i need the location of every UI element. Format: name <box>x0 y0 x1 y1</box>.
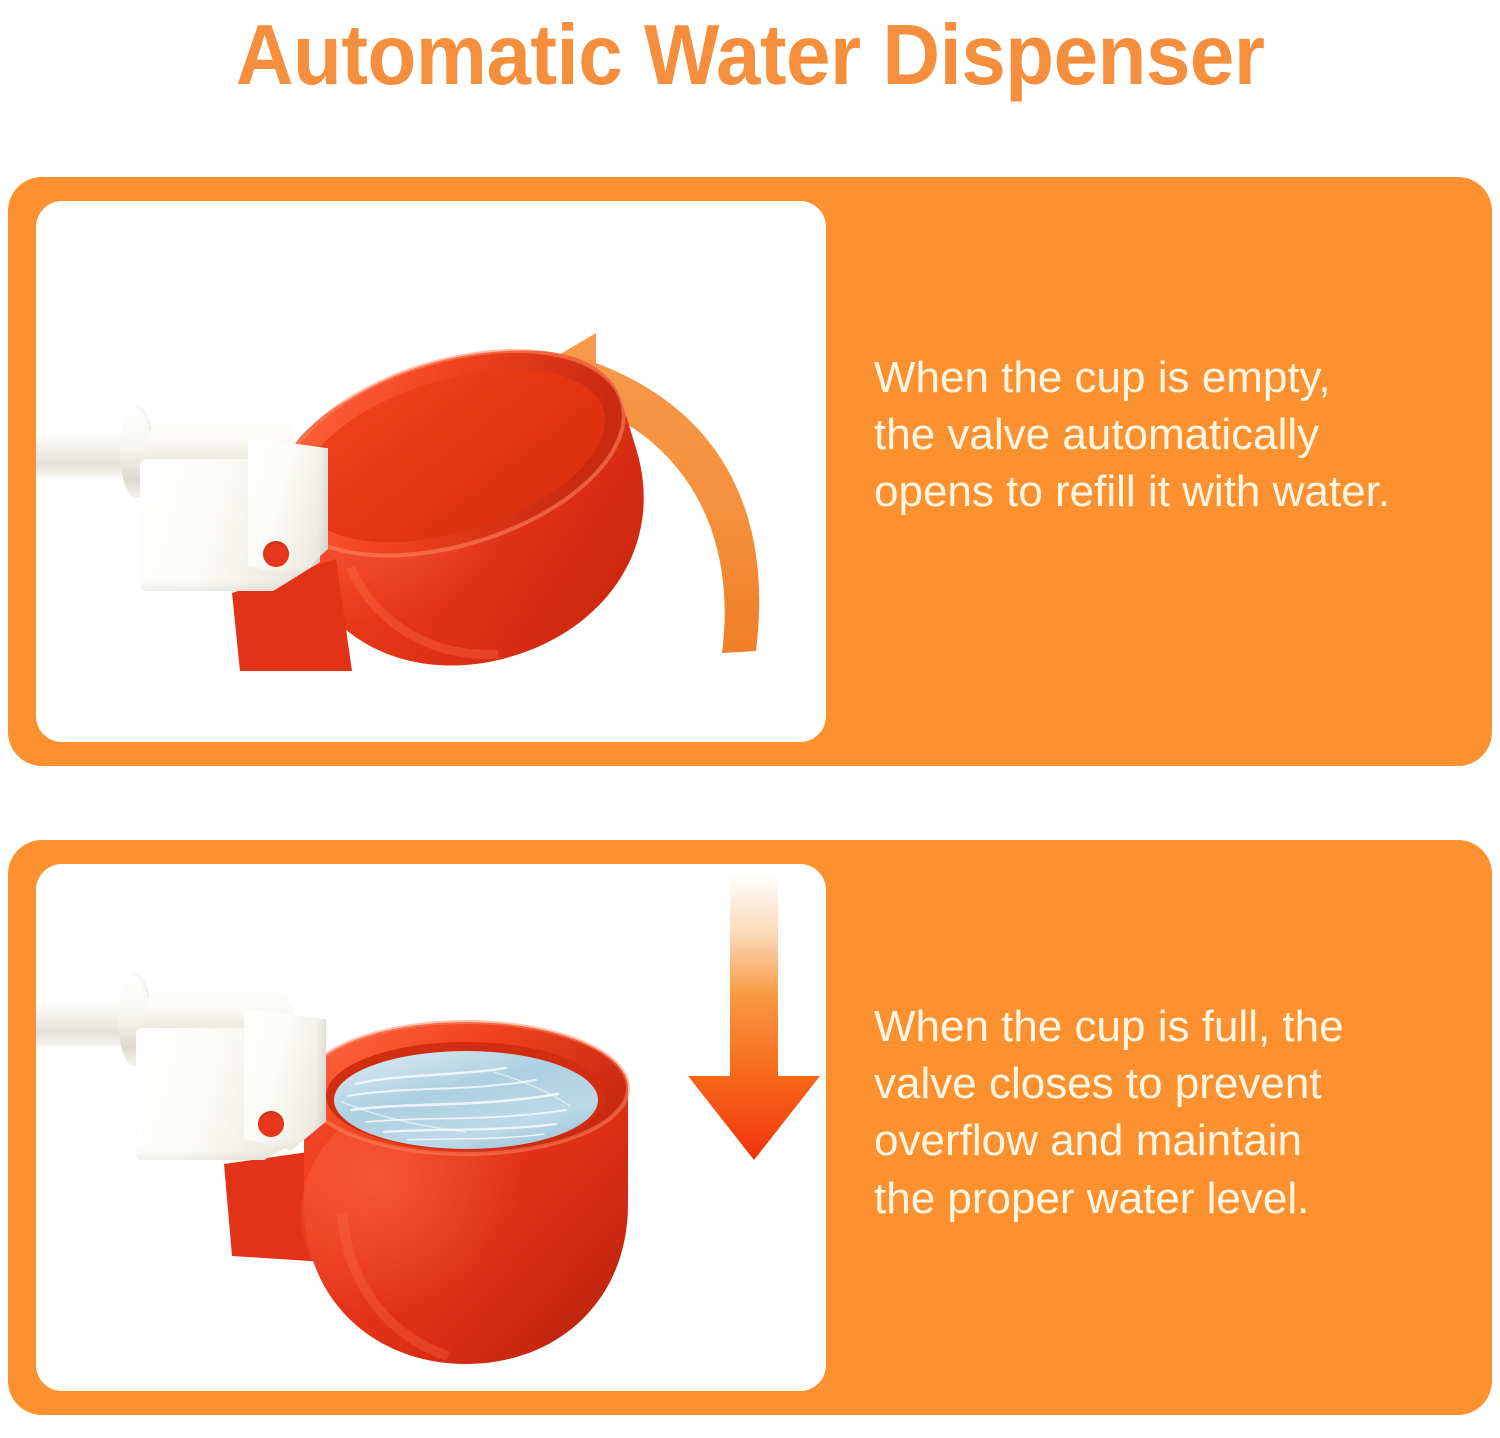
page-title: Automatic Water Dispenser <box>236 13 1265 98</box>
caption-line: overflow and maintain <box>874 1112 1452 1169</box>
down-arrow-icon <box>688 874 820 1160</box>
page-header: Automatic Water Dispenser <box>0 0 1500 110</box>
water-surface <box>334 1051 598 1149</box>
valve-pin-hole <box>258 1111 284 1137</box>
caption-full-cup: When the cup is full, the valve closes t… <box>874 998 1452 1227</box>
caption-line: opens to refill it with water. <box>874 463 1452 520</box>
valve-pin-hole <box>263 541 289 567</box>
caption-line: When the cup is full, the <box>874 998 1452 1055</box>
caption-line: When the cup is empty, <box>874 349 1452 406</box>
red-cup-full <box>301 1022 628 1364</box>
panel-empty-cup: When the cup is empty, the valve automat… <box>8 177 1492 766</box>
product-photo-full-cup <box>36 864 826 1391</box>
product-photo-empty-cup <box>36 201 826 742</box>
illustration-empty-cup <box>36 201 826 742</box>
illustration-full-cup <box>36 864 826 1391</box>
panel-full-cup: When the cup is full, the valve closes t… <box>8 840 1492 1415</box>
valve-collar <box>244 1008 326 1150</box>
caption-empty-cup: When the cup is empty, the valve automat… <box>874 349 1452 521</box>
caption-line: the valve automatically <box>874 406 1452 463</box>
caption-line: valve closes to prevent <box>874 1055 1452 1112</box>
caption-line: the proper water level. <box>874 1170 1452 1227</box>
